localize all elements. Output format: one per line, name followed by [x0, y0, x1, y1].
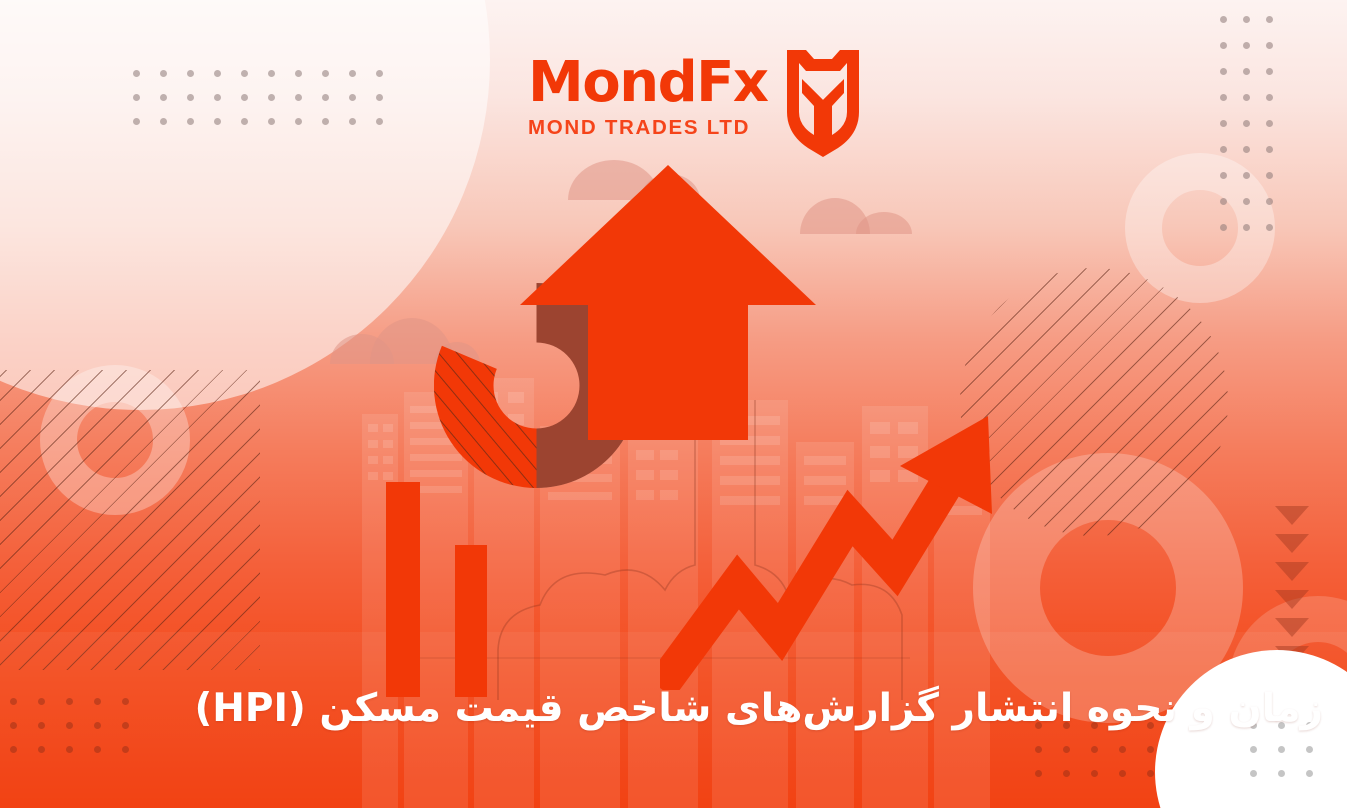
- growth-zigzag-arrow: [660, 400, 1020, 690]
- bar-short: [455, 545, 487, 697]
- shield-chevron-logo-icon: [782, 38, 864, 158]
- banner-root: MondFx MOND TRADES LTD زمان و نحوه انتشا…: [0, 0, 1347, 808]
- brand-tagline: MOND TRADES LTD: [528, 116, 768, 140]
- dot-grid-top-left: [133, 70, 393, 136]
- cloud-2: [800, 198, 912, 234]
- up-arrow-head: [520, 165, 816, 305]
- donut-segment-b: [434, 346, 537, 488]
- up-arrow: [588, 165, 748, 440]
- triangle-down-icon: [1275, 506, 1309, 525]
- brand-logo[interactable]: MondFx MOND TRADES LTD: [528, 38, 864, 158]
- triangle-column-right: [1275, 506, 1309, 674]
- triangle-down-icon: [1275, 534, 1309, 553]
- bar-tall: [386, 482, 420, 697]
- brand-name: MondFx: [528, 56, 768, 109]
- dot-grid-top-right: [1220, 16, 1286, 244]
- brand-logo-text: MondFx MOND TRADES LTD: [528, 56, 768, 139]
- triangle-down-icon: [1275, 562, 1309, 581]
- triangle-down-icon: [1275, 590, 1309, 609]
- triangle-down-icon: [1275, 618, 1309, 637]
- page-title: زمان و نحوه انتشار گزارش‌های شاخص قیمت م…: [24, 685, 1323, 734]
